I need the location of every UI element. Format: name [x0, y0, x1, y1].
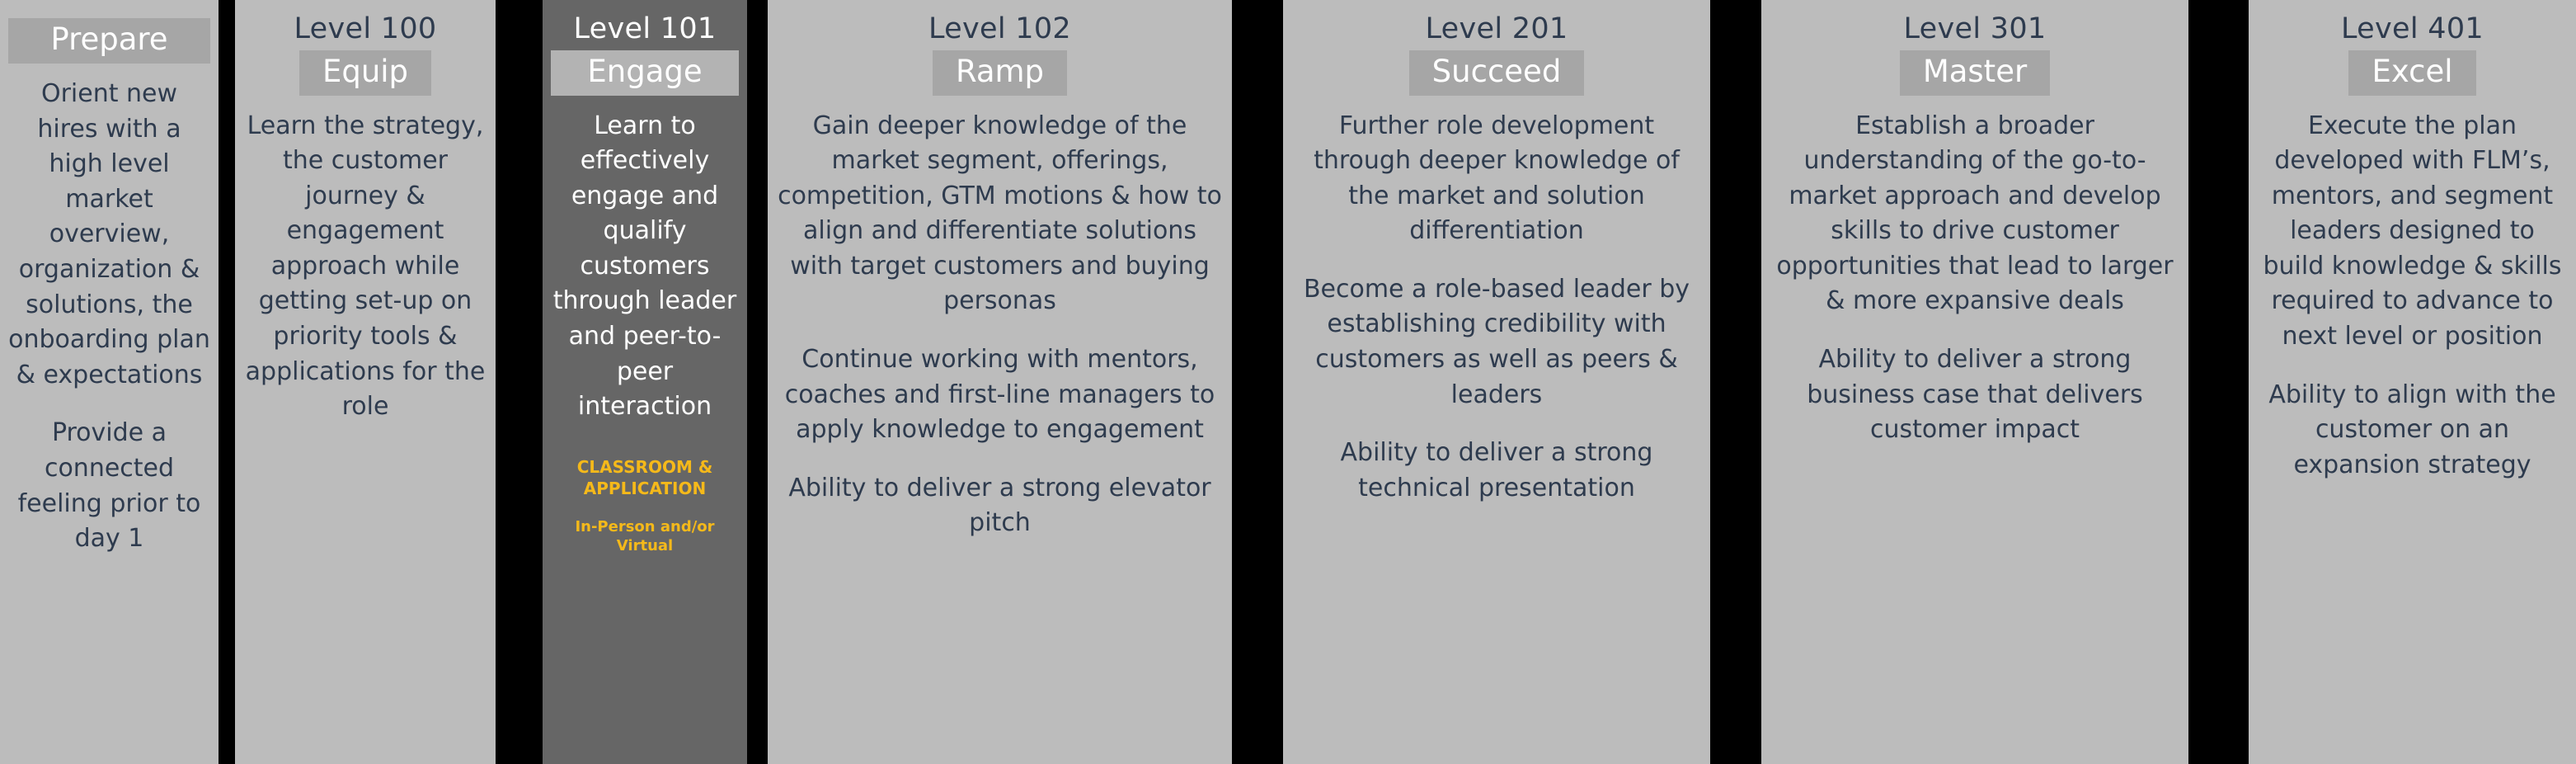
stage-column-equip[interactable]: Level 100 Equip Learn the strategy, the … [235, 0, 496, 764]
stage-badge-engage[interactable]: Engage [551, 50, 739, 96]
stage-paragraph: Provide a connected feeling prior to day… [8, 416, 210, 556]
stage-paragraph: Learn to effectively engage and qualify … [551, 109, 739, 425]
stage-column-succeed[interactable]: Level 201 Succeed Further role developme… [1283, 0, 1710, 764]
stage-badge-prepare[interactable]: Prepare [8, 18, 210, 64]
column-divider [1710, 0, 1761, 764]
stage-paragraph: Ability to deliver a strong business cas… [1770, 342, 2180, 448]
enablement-journey-board: Prepare Orient new hires with a high lev… [0, 0, 2576, 764]
column-divider [219, 0, 235, 764]
column-divider [2188, 0, 2249, 764]
stage-badge-equip[interactable]: Equip [299, 50, 431, 96]
delivery-mode-primary: CLASSROOM & APPLICATION [551, 456, 739, 499]
stage-paragraph: Continue working with mentors, coaches a… [776, 342, 1224, 448]
stage-badge-master[interactable]: Master [1900, 50, 2050, 96]
stage-badge-succeed[interactable]: Succeed [1409, 50, 1585, 96]
stage-paragraph: Orient new hires with a high level marke… [8, 77, 210, 393]
stage-column-excel[interactable]: Level 401 Excel Execute the plan develop… [2249, 0, 2576, 764]
column-divider [496, 0, 543, 764]
stage-paragraph: Ability to deliver a strong technical pr… [1291, 436, 1702, 506]
stage-paragraph: Learn the strategy, the customer journey… [243, 109, 487, 425]
stage-paragraph: Ability to align with the customer on an… [2257, 378, 2568, 483]
level-heading-100: Level 100 [294, 13, 436, 45]
column-divider [1232, 0, 1283, 764]
stage-paragraph: Gain deeper knowledge of the market segm… [776, 109, 1224, 320]
level-heading-102: Level 102 [928, 13, 1071, 45]
stage-paragraph: Further role development through deeper … [1291, 109, 1702, 249]
stage-badge-excel[interactable]: Excel [2348, 50, 2475, 96]
level-heading-101: Level 101 [573, 13, 716, 45]
stage-column-engage[interactable]: Level 101 Engage Learn to effectively en… [543, 0, 747, 764]
stage-paragraph: Ability to deliver a strong elevator pit… [776, 471, 1224, 541]
stage-column-master[interactable]: Level 301 Master Establish a broader und… [1761, 0, 2188, 764]
level-heading-401: Level 401 [2341, 13, 2484, 45]
delivery-mode-secondary: In-Person and/or Virtual [551, 517, 739, 556]
stage-paragraph: Execute the plan developed with FLM’s, m… [2257, 109, 2568, 355]
level-heading-201: Level 201 [1425, 13, 1568, 45]
stage-column-ramp[interactable]: Level 102 Ramp Gain deeper knowledge of … [768, 0, 1232, 764]
stage-column-prepare[interactable]: Prepare Orient new hires with a high lev… [0, 0, 219, 764]
level-heading-301: Level 301 [1903, 13, 2046, 45]
stage-paragraph: Become a role-based leader by establishi… [1291, 272, 1702, 413]
stage-paragraph: Establish a broader understanding of the… [1770, 109, 2180, 320]
stage-badge-ramp[interactable]: Ramp [933, 50, 1067, 96]
column-divider [747, 0, 768, 764]
